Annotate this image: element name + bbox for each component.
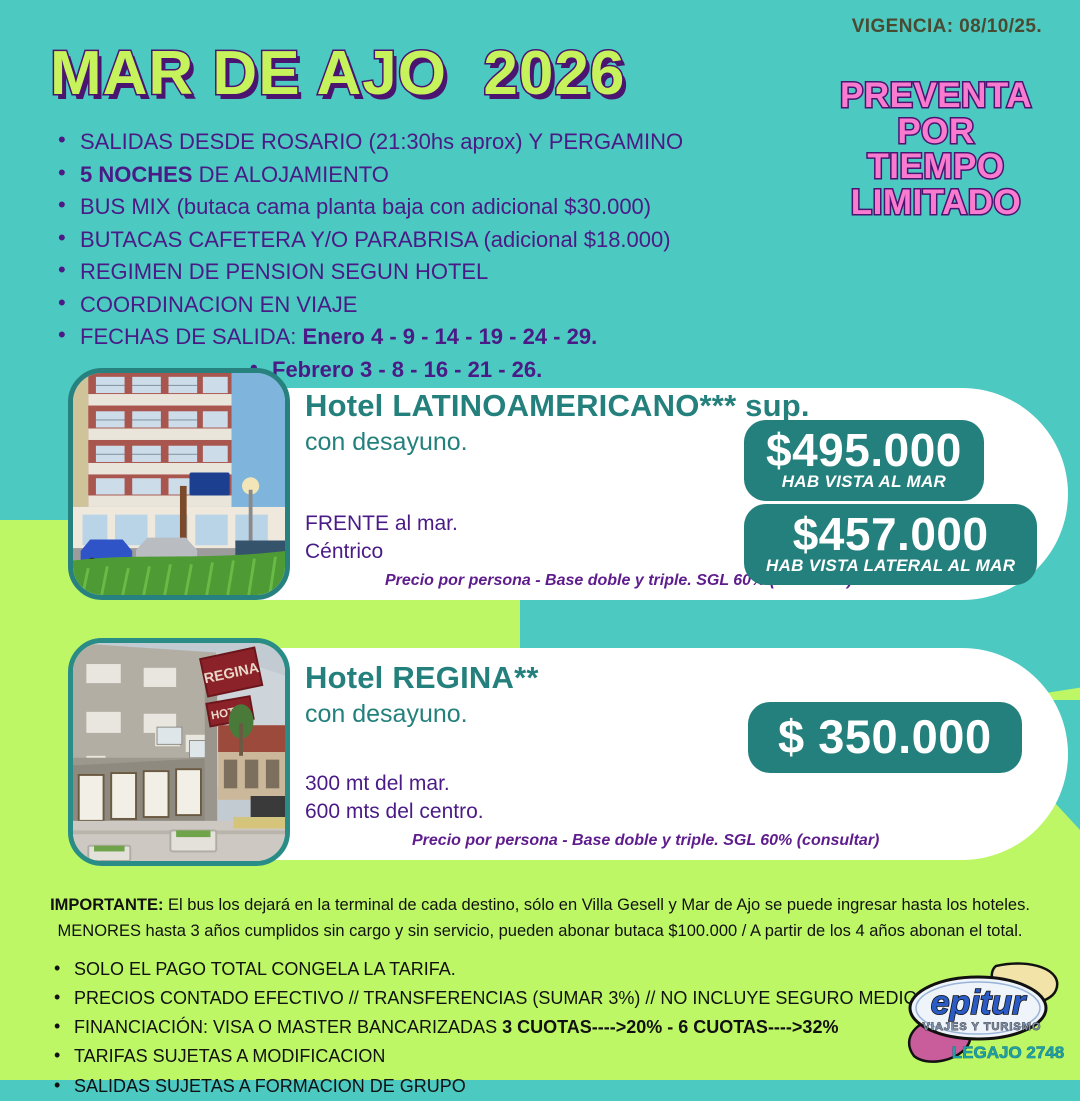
feature-text: SALIDAS DESDE ROSARIO (21:30hs aprox) Y … [80,129,683,154]
condition-text: SOLO EL PAGO TOTAL CONGELA LA TARIFA. [74,959,456,979]
list-item: COORDINACION EN VIAJE [52,289,683,322]
svg-text:LEGAJO 2748: LEGAJO 2748 [952,1043,1064,1062]
company-logo-icon: epitur VIAJES Y TURISMO LEGAJO 2748 [896,960,1066,1072]
condition-text: TARIFAS SUJETAS A MODIFICACION [74,1046,385,1066]
promo-line-1: PREVENTA [826,78,1046,114]
list-item: SOLO EL PAGO TOTAL CONGELA LA TARIFA. [48,955,935,984]
hotel-subtitle-regina: con desayuno. [305,700,468,729]
page-title: MAR DE AJO 2026 [50,38,625,109]
hotel-name-latinoamericano: Hotel LATINOAMERICANO*** sup. [305,388,810,424]
list-item: FECHAS DE SALIDA: Enero 4 - 9 - 14 - 19 … [52,321,683,354]
hotel-subtitle-latinoamericano: con desayuno. [305,428,468,457]
svg-text:epitur: epitur [931,984,1027,1022]
price-amount: $457.000 [766,510,1015,558]
condition-text: FINANCIACIÓN: VISA O MASTER BANCARIZADAS [74,1017,502,1037]
validity-date: VIGENCIA: 08/10/25. [852,16,1042,38]
important-line-2: MENORES hasta 3 años cumplidos sin cargo… [0,918,1080,944]
hotel-regina-photo: REGINA HOTEL [68,638,290,866]
epitur-logo: epitur VIAJES Y TURISMO LEGAJO 2748 [896,960,1066,1072]
price-amount: $ 350.000 [778,712,992,761]
condition-text: SALIDAS SUJETAS A FORMACION DE GRUPO [74,1076,466,1096]
list-item: FINANCIACIÓN: VISA O MASTER BANCARIZADAS… [48,1013,935,1042]
price-note: HAB VISTA LATERAL AL MAR [766,556,1015,576]
list-item: BUS MIX (butaca cama planta baja con adi… [52,191,683,224]
list-item: BUTACAS CAFETERA Y/O PARABRISA (adiciona… [52,224,683,257]
important-text: El bus los dejará en la terminal de cada… [163,896,1029,914]
minors-text: hasta 3 años cumplidos sin cargo y sin s… [141,922,1023,940]
feature-text: DE ALOJAMIENTO [192,162,388,187]
hotel-latinoamericano-photo [68,368,290,600]
financing-terms: 3 CUOTAS---->20% - 6 CUOTAS---->32% [502,1017,838,1037]
promo-line-2: POR [826,114,1046,150]
feature-text: COORDINACION EN VIAJE [80,292,357,317]
important-line-1: IMPORTANTE: El bus los dejará en la term… [0,892,1080,918]
list-item: SALIDAS DESDE ROSARIO (21:30hs aprox) Y … [52,126,683,159]
list-item: REGIMEN DE PENSION SEGUN HOTEL [52,256,683,289]
list-item: 5 NOCHES DE ALOJAMIENTO [52,159,683,192]
fineprint-regina: Precio por persona - Base doble y triple… [412,832,879,850]
feature-text: BUTACAS CAFETERA Y/O PARABRISA (adiciona… [80,227,671,252]
price-amount: $495.000 [766,426,962,474]
promo-line-3: TIEMPO [826,149,1046,185]
list-item: SALIDAS SUJETAS A FORMACION DE GRUPO [48,1072,935,1101]
feature-text: BUS MIX (butaca cama planta baja con adi… [80,194,651,219]
hotel-building-illustration [73,373,285,595]
hotel-building-illustration: REGINA HOTEL [73,643,285,861]
condition-text: PRECIOS CONTADO EFECTIVO // TRANSFERENCI… [74,988,935,1008]
price-note: HAB VISTA AL MAR [766,472,962,492]
price-badge-regina: $ 350.000 [748,702,1022,773]
promo-banner: PREVENTA POR TIEMPO LIMITADO [826,78,1046,221]
promo-line-4: LIMITADO [826,185,1046,221]
minors-label: MENORES [58,922,141,940]
features-list: SALIDAS DESDE ROSARIO (21:30hs aprox) Y … [52,126,683,386]
important-notice: IMPORTANTE: El bus los dejará en la term… [0,892,1080,945]
feature-text: FECHAS DE SALIDA: [80,324,303,349]
price-badge-vista-al-mar: $495.000 HAB VISTA AL MAR [744,420,984,501]
hotel-description-latinoamericano: FRENTE al mar. Céntrico [305,510,458,567]
conditions-list: SOLO EL PAGO TOTAL CONGELA LA TARIFA. PR… [48,955,935,1101]
list-item: PRECIOS CONTADO EFECTIVO // TRANSFERENCI… [48,984,935,1013]
list-item: TARIFAS SUJETAS A MODIFICACION [48,1042,935,1071]
hotel-name-regina: Hotel REGINA** [305,660,539,696]
hotel-description-regina: 300 mt del mar. 600 mts del centro. [305,770,484,827]
price-badge-vista-lateral: $457.000 HAB VISTA LATERAL AL MAR [744,504,1037,585]
departure-dates-january: Enero 4 - 9 - 14 - 19 - 24 - 29. [303,324,598,349]
feature-text: REGIMEN DE PENSION SEGUN HOTEL [80,259,488,284]
departure-dates-february: Febrero 3 - 8 - 16 - 21 - 26. [244,354,683,387]
svg-text:VIAJES Y TURISMO: VIAJES Y TURISMO [923,1021,1042,1033]
feature-bold: 5 NOCHES [80,162,192,187]
important-label: IMPORTANTE: [50,896,163,914]
